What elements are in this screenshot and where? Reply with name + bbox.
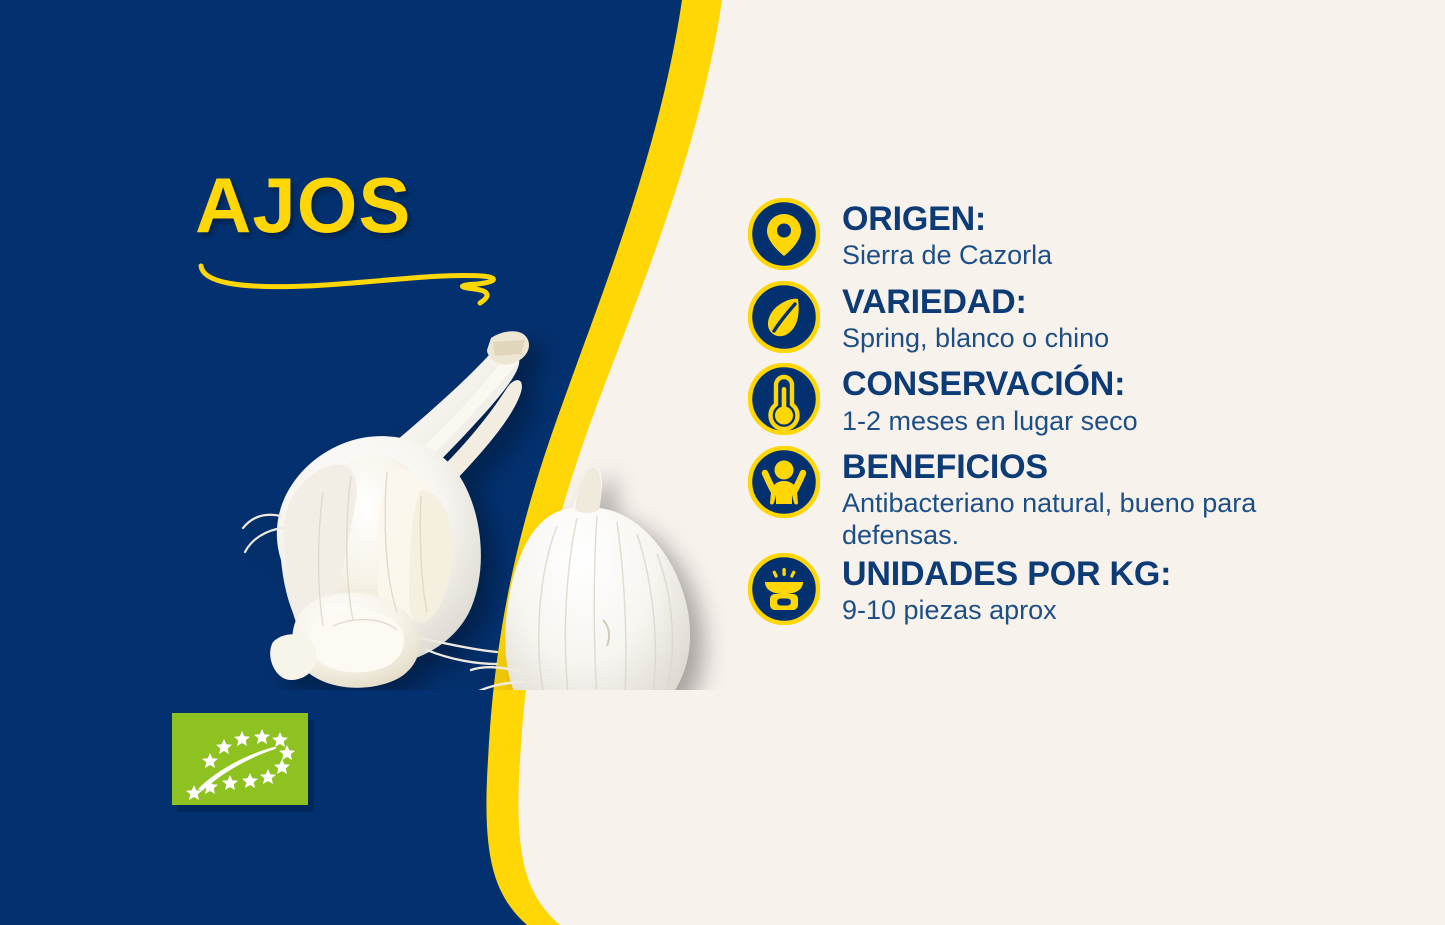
title-underline-swoosh <box>197 246 517 306</box>
fact-title: ORIGEN: <box>842 202 1052 237</box>
fact-text-conservacion: CONSERVACIÓN: 1-2 meses en lugar seco <box>842 363 1138 437</box>
fact-desc: 1-2 meses en lugar seco <box>842 406 1138 437</box>
fact-row-beneficios: BENEFICIOS Antibacteriano natural, bueno… <box>748 446 1388 551</box>
garlic-bulbs-photo <box>225 320 745 690</box>
location-pin-icon <box>748 198 820 270</box>
fact-text-variedad: VARIEDAD: Spring, blanco o chino <box>842 281 1109 355</box>
thermometer-icon <box>748 363 820 435</box>
fact-desc: Spring, blanco o chino <box>842 323 1109 354</box>
fact-desc: 9-10 piezas aprox <box>842 595 1171 626</box>
facts-list: ORIGEN: Sierra de Cazorla VARIEDAD: Spri… <box>748 198 1388 636</box>
person-raised-arms-icon <box>748 446 820 518</box>
fact-desc: Sierra de Cazorla <box>842 240 1052 271</box>
fact-title: BENEFICIOS <box>842 450 1362 485</box>
fact-title: UNIDADES POR KG: <box>842 557 1171 592</box>
fact-row-variedad: VARIEDAD: Spring, blanco o chino <box>748 281 1388 355</box>
kitchen-scale-icon <box>748 553 820 625</box>
fact-desc: Antibacteriano natural, bueno para defen… <box>842 488 1362 551</box>
fact-title: CONSERVACIÓN: <box>842 367 1138 402</box>
infographic-card: AJOS <box>0 0 1445 925</box>
fact-row-unidades: UNIDADES POR KG: 9-10 piezas aprox <box>748 553 1388 627</box>
leaf-icon <box>748 281 820 353</box>
eu-organic-euroleaf-logo <box>172 713 308 805</box>
fact-row-origen: ORIGEN: Sierra de Cazorla <box>748 198 1388 272</box>
garlic-broken-bulb <box>243 331 529 688</box>
fact-row-conservacion: CONSERVACIÓN: 1-2 meses en lugar seco <box>748 363 1388 437</box>
fact-text-origen: ORIGEN: Sierra de Cazorla <box>842 198 1052 272</box>
page-title: AJOS <box>195 168 615 242</box>
fact-title: VARIEDAD: <box>842 285 1109 320</box>
title-block: AJOS <box>195 168 615 242</box>
fact-text-unidades: UNIDADES POR KG: 9-10 piezas aprox <box>842 553 1171 627</box>
garlic-whole-bulb <box>471 468 690 690</box>
fact-text-beneficios: BENEFICIOS Antibacteriano natural, bueno… <box>842 446 1362 551</box>
euroleaf-stars <box>172 713 308 805</box>
